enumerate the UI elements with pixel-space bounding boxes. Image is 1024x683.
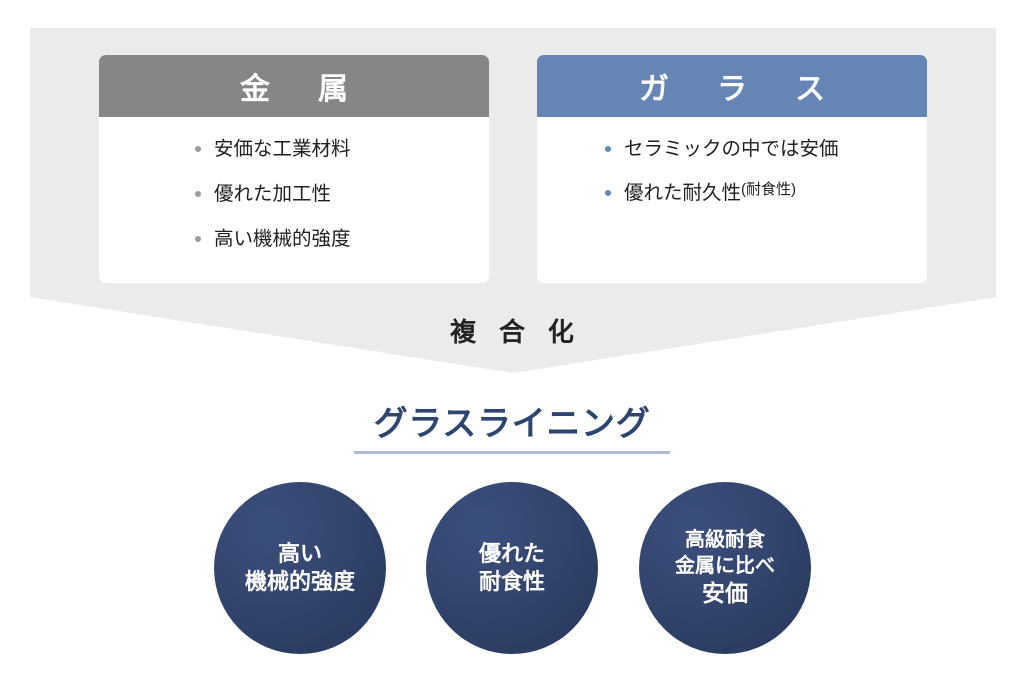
comparison-card-glass: ガ ラ ス セラミックの中では安価 優れた耐久性(耐食性) [537,55,927,283]
card-header-glass: ガ ラ ス [537,55,927,117]
title-underline [354,451,670,454]
comparison-card-metal: 金 属 安価な工業材料 優れた加工性 高い機械的強度 [99,55,489,283]
bullet-text: セラミックの中では安価 [624,137,839,161]
benefit-circle-text: 高級耐食 金属に比べ 安価 [669,528,781,607]
bullet-subtext: (耐食性) [741,181,796,200]
list-item: セラミックの中では安価 [537,137,927,161]
card-body-glass: セラミックの中では安価 優れた耐久性(耐食性) [537,117,927,205]
bullet-dot-icon [605,146,611,152]
bullet-text: 安価な工業材料 [214,137,351,161]
bullet-dot-icon [605,190,611,196]
benefit-line: 高い [245,540,355,568]
list-item: 高い機械的強度 [99,227,489,251]
benefit-circle-text: 高い 機械的強度 [239,540,361,595]
bullet-list-glass: セラミックの中では安価 優れた耐久性(耐食性) [537,137,927,205]
list-item: 優れた加工性 [99,182,489,206]
benefit-line: 機械的強度 [245,568,355,596]
bullet-text: 高い機械的強度 [214,227,351,251]
list-item: 安価な工業材料 [99,137,489,161]
benefit-circle-strength: 高い 機械的強度 [214,482,386,654]
bullet-list-metal: 安価な工業材料 優れた加工性 高い機械的強度 [99,137,489,252]
diagram-canvas: 金 属 安価な工業材料 優れた加工性 高い機械的強度 ガ ラ ス [0,0,1024,683]
benefit-circle-text: 優れた 耐食性 [473,540,551,595]
bullet-dot-icon [195,146,201,152]
bullet-dot-icon [195,236,201,242]
benefit-line: 高級耐食 [675,528,775,553]
benefit-line: 優れた [479,540,545,568]
benefit-line: 安価 [675,579,775,608]
bullet-dot-icon [195,191,201,197]
card-header-metal: 金 属 [99,55,489,117]
bullet-text: 優れた加工性 [214,182,331,206]
benefit-circle-cost: 高級耐食 金属に比べ 安価 [639,482,811,654]
benefit-circle-corrosion: 優れた 耐食性 [426,482,598,654]
bullet-text: 優れた耐久性 [624,181,741,205]
page-title: グラスライニング [0,396,1024,445]
benefit-line: 耐食性 [479,568,545,596]
benefit-line: 金属に比べ [675,554,775,579]
list-item: 優れた耐久性(耐食性) [537,181,927,205]
fusion-label: 複 合 化 [0,312,1024,349]
card-body-metal: 安価な工業材料 優れた加工性 高い機械的強度 [99,117,489,252]
